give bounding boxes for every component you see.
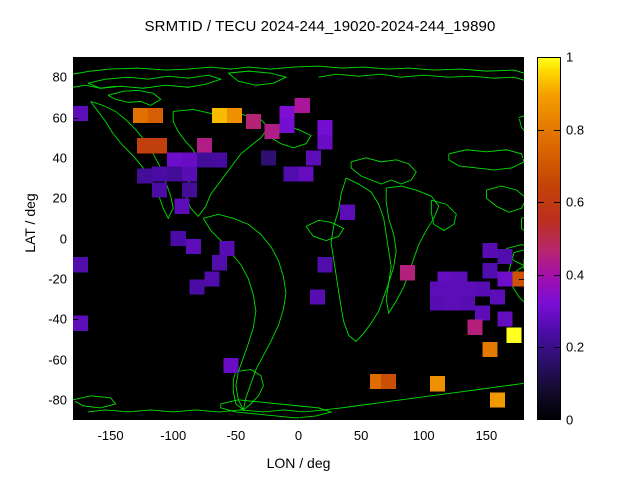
heatmap-cell [381,374,396,389]
heatmap-cell [227,108,242,123]
x-tick-label: -150 [98,428,124,443]
x-tick-mark [111,57,112,62]
y-tick-mark [73,77,78,78]
heatmap-cell [205,271,220,286]
heatmap-cell [400,265,415,280]
heatmap-cell [430,295,445,310]
heatmap-cell [460,281,475,296]
x-tick-mark [236,415,237,420]
heatmap-cell [212,152,227,167]
heatmap-cell [186,239,201,254]
heatmap-cell [73,257,88,272]
heatmap-cell [182,166,197,181]
y-tick-mark [519,198,524,199]
heatmap-cell [310,289,325,304]
heatmap-cell [197,152,212,167]
heatmap-cell [152,166,167,181]
heatmap-cell [475,306,490,321]
heatmap-cell [167,152,182,167]
heatmap-cell [445,295,460,310]
heatmap-cell [317,134,332,149]
y-tick-mark [73,400,78,401]
x-tick-label: 50 [354,428,368,443]
heatmap-cell [483,342,498,357]
heatmap-cell [212,255,227,270]
heatmap-cell [340,205,355,220]
colorbar-tick-mark [538,202,544,203]
colorbar-tick-label: 0.8 [566,122,584,137]
heatmap-cell [190,279,205,294]
heatmap-cell [280,118,295,133]
heatmap-cell [483,243,498,258]
colorbar-tick-mark [538,347,544,348]
colorbar-tick-mark [538,130,544,131]
x-tick-mark [361,415,362,420]
y-tick-mark [73,198,78,199]
heatmap-cell [306,150,321,165]
heatmap-cell [498,271,513,286]
heatmap-cell [171,231,186,246]
colorbar-tick-labels: 00.20.40.60.81 [566,57,626,420]
map-plot-area[interactable] [73,57,524,420]
y-tick-mark [519,77,524,78]
y-tick-mark [73,118,78,119]
heatmap-cell [498,249,513,264]
heatmap-cell [167,166,182,181]
colorbar-tick-mark [554,275,560,276]
colorbar-tick-label: 0.4 [566,267,584,282]
x-tick-mark [236,57,237,62]
x-axis-title: LON / deg [73,455,524,471]
heatmap-cell [460,295,475,310]
heatmap-cell [475,281,490,296]
heatmap-cell [490,392,505,407]
heatmap-cells-layer [73,57,524,420]
heatmap-cell [283,166,298,181]
x-tick-label: -50 [226,428,245,443]
heatmap-cell [317,257,332,272]
figure-root: SRMTID / TECU 2024-244_19020-2024-244_19… [0,0,640,480]
y-tick-mark [519,118,524,119]
x-tick-mark [424,57,425,62]
x-tick-mark [111,415,112,420]
x-tick-label: 150 [476,428,498,443]
y-tick-label: 80 [25,70,67,85]
heatmap-cell [468,320,483,335]
colorbar-tick-label: 0 [566,413,573,428]
heatmap-cell [73,316,88,331]
x-tick-mark [173,57,174,62]
y-axis-title: LAT / deg [22,153,38,293]
heatmap-cell [223,358,238,373]
chart-title: SRMTID / TECU 2024-244_19020-2024-244_19… [0,18,640,35]
y-tick-mark [519,279,524,280]
x-tick-mark [486,415,487,420]
colorbar-tick-label: 1 [566,50,573,65]
y-tick-mark [73,158,78,159]
heatmap-cell [261,150,276,165]
x-tick-mark [299,57,300,62]
y-tick-mark [519,158,524,159]
heatmap-cell [246,114,261,129]
colorbar-tick-label: 0.2 [566,340,584,355]
y-tick-mark [519,239,524,240]
y-tick-mark [519,400,524,401]
colorbar-tick-mark [554,202,560,203]
heatmap-cell [174,199,189,214]
y-tick-label: -60 [25,352,67,367]
y-tick-mark [73,239,78,240]
y-tick-mark [73,360,78,361]
heatmap-cell [182,183,197,198]
y-tick-mark [73,319,78,320]
y-tick-label: -40 [25,312,67,327]
y-tick-mark [73,279,78,280]
heatmap-cell [430,281,445,296]
heatmap-cell [265,124,280,139]
colorbar-tick-mark [554,347,560,348]
colorbar-tick-label: 0.6 [566,195,584,210]
heatmap-cell [483,263,498,278]
heatmap-cell [299,166,314,181]
heatmap-cell [182,152,197,167]
heatmap-cell [133,108,148,123]
x-tick-label: 100 [413,428,435,443]
heatmap-cell [73,106,88,121]
y-tick-label: 60 [25,110,67,125]
heatmap-cell [445,281,460,296]
heatmap-cell [317,120,332,135]
heatmap-cell [212,108,227,123]
heatmap-cell [137,138,152,153]
plot-inner [73,57,524,420]
heatmap-cell [152,183,167,198]
heatmap-cell [152,138,167,153]
heatmap-cell [490,289,505,304]
x-tick-mark [486,57,487,62]
heatmap-cell [295,98,310,113]
colorbar-ticks [537,57,561,420]
heatmap-cell [506,328,521,343]
colorbar-tick-mark [554,130,560,131]
x-tick-mark [361,57,362,62]
heatmap-cell [220,241,235,256]
heatmap-cell [498,312,513,327]
y-tick-label: -80 [25,392,67,407]
x-tick-label: -100 [160,428,186,443]
heatmap-cell [197,138,212,153]
heatmap-cell [430,376,445,391]
y-tick-mark [519,319,524,320]
x-tick-mark [299,415,300,420]
x-tick-mark [424,415,425,420]
y-tick-mark [519,360,524,361]
x-tick-label: 0 [295,428,302,443]
colorbar-tick-mark [538,275,544,276]
heatmap-cell [148,108,163,123]
heatmap-cell [137,168,152,183]
x-tick-mark [173,415,174,420]
